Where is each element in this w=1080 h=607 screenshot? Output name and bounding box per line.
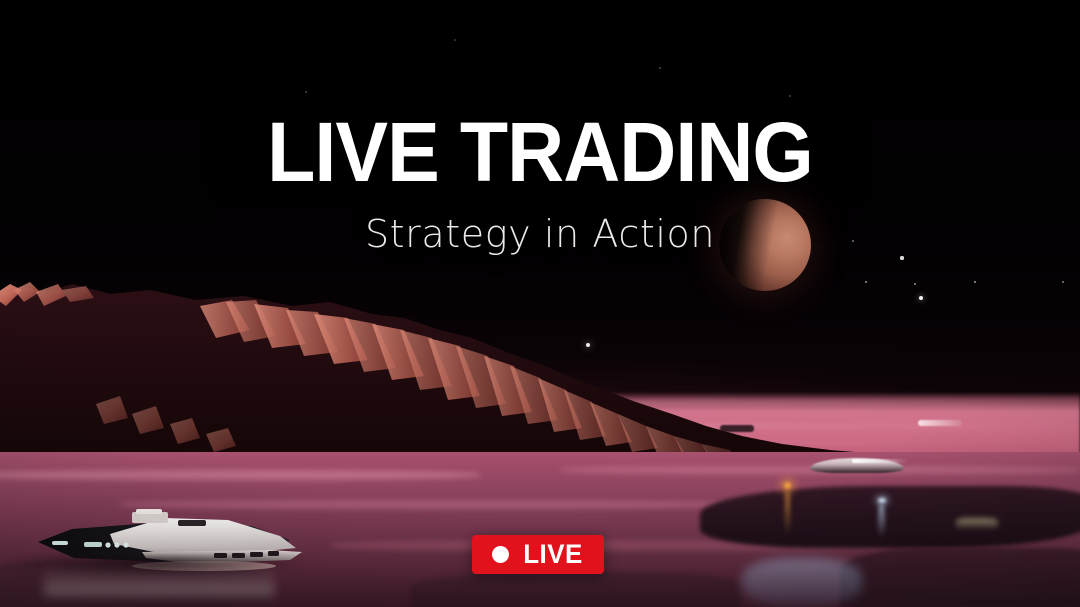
water-body bbox=[700, 486, 1080, 548]
page-title: LIVE TRADING bbox=[32, 110, 1047, 194]
water-body bbox=[840, 548, 1080, 607]
water-reflection-patch bbox=[742, 558, 862, 606]
live-badge-label: LIVE bbox=[523, 541, 583, 568]
light-yellow-reflection bbox=[956, 518, 998, 530]
plain-streak bbox=[0, 470, 480, 480]
distant-craft-right-glint bbox=[852, 459, 908, 463]
light-blue-reflection bbox=[878, 504, 885, 538]
water-body bbox=[410, 572, 740, 607]
light-blue bbox=[878, 498, 886, 503]
light-orange-reflection bbox=[785, 490, 790, 536]
record-dot-icon bbox=[492, 546, 509, 563]
distant-craft-far bbox=[918, 420, 962, 426]
light-orange bbox=[784, 482, 791, 489]
page-subtitle: Strategy in Action bbox=[0, 212, 1080, 256]
spacecraft-reflection bbox=[44, 566, 274, 596]
distant-craft-horizon bbox=[720, 425, 754, 432]
stream-overlay-stage: LIVE TRADING Strategy in Action LIVE bbox=[0, 0, 1080, 607]
live-status-badge[interactable]: LIVE bbox=[472, 535, 604, 574]
